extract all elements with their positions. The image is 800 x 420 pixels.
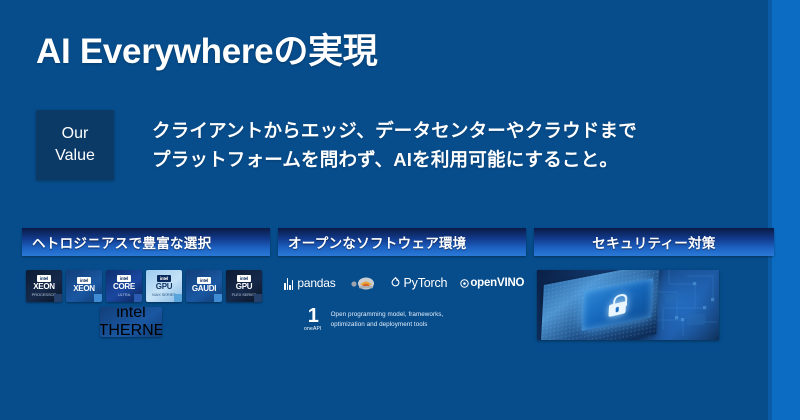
page-title: AI Everywhereの実現 — [36, 32, 377, 72]
pandas-mark-icon — [284, 277, 293, 290]
chip-badge-gpu-max: intel GPU MAX SERIES — [146, 270, 182, 302]
our-value-badge: Our Value — [36, 110, 114, 180]
openvino-logo-label: openVINO — [470, 277, 524, 289]
chip-name: GPU — [236, 283, 252, 291]
openvino-logo: openVINO — [460, 277, 524, 289]
column-hardware: ヘトロジニアスで豊富な選択 intel XEON PROCESSOR intel… — [22, 228, 270, 340]
oneapi-description-line2: optimization and deployment tools — [331, 320, 444, 330]
lock-keyhole — [615, 307, 618, 313]
chip-sub: PROCESSOR — [32, 293, 57, 297]
chip-name: XEON — [33, 283, 54, 291]
security-chip-photo — [537, 270, 719, 340]
chip-corner-accent — [94, 294, 102, 302]
oneapi-description: Open programming model, frameworks, opti… — [331, 307, 444, 331]
oneapi-logo-icon: 1 oneAPI — [304, 307, 322, 332]
chip-name: GPU — [156, 283, 172, 291]
oneapi-wordmark: oneAPI — [304, 326, 322, 332]
pytorch-flame-icon — [390, 277, 401, 289]
chip-corner-accent — [214, 294, 222, 302]
chip-badge-gpu-flex: intel GPU FLEX SERIES — [226, 270, 262, 302]
column-body-software: pandas — [278, 270, 526, 332]
column-heading-security: セキュリティー対策 — [534, 228, 774, 256]
spark-mark-icon — [349, 275, 377, 291]
value-proposition-row: Our Value クライアントからエッジ、データセンターやクラウドまで プラッ… — [36, 110, 736, 180]
pytorch-logo-label: PyTorch — [404, 276, 448, 290]
chip-name: ETHERNET — [100, 322, 162, 337]
chip-sub: ULTRA — [118, 293, 130, 297]
column-security: セキュリティー対策 — [534, 228, 774, 340]
chip-sub: FLEX SERIES — [232, 293, 257, 297]
right-accent-stripe — [772, 0, 800, 420]
chip-corner-accent — [54, 294, 62, 302]
value-text-line1: クライアントからエッジ、データセンターやクラウドまで — [152, 117, 637, 146]
intel-logo-tag: intel — [117, 275, 131, 282]
pandas-logo: pandas — [284, 276, 336, 290]
intel-logo-tag: intel — [77, 277, 91, 284]
intel-logo-tag: intel — [157, 275, 171, 282]
chip-badge-xeon-1: intel XEON PROCESSOR — [26, 270, 62, 302]
oneapi-description-line1: Open programming model, frameworks, — [331, 310, 444, 320]
chip-badge-grid: intel XEON PROCESSOR intel XEON intel CO… — [22, 270, 270, 302]
chip-badge-xeon-2: intel XEON — [66, 270, 102, 302]
oneapi-block: 1 oneAPI Open programming model, framewo… — [278, 307, 526, 332]
slide-root: AI Everywhereの実現 Our Value クライアントからエッジ、デ… — [0, 0, 800, 420]
oneapi-number: 1 — [308, 307, 318, 325]
columns-container: ヘトロジニアスで豊富な選択 intel XEON PROCESSOR intel… — [22, 228, 782, 340]
column-software: オープンなソフトウェア環境 pandas — [278, 228, 526, 340]
pandas-logo-label: pandas — [297, 276, 335, 290]
chip-name: GAUDI — [192, 285, 216, 293]
intel-logo-tag: intel — [37, 275, 51, 282]
chip-corner-accent — [254, 294, 262, 302]
chip-name: XEON — [73, 285, 94, 293]
chip-corner-accent — [174, 294, 182, 302]
intel-logo-tag: intel — [116, 307, 145, 322]
intel-logo-tag: intel — [237, 275, 251, 282]
column-heading-software: オープンなソフトウェア環境 — [278, 228, 526, 256]
value-text-line2: プラットフォームを問わず、AIを利用可能にすること。 — [152, 146, 637, 175]
chip-name: CORE — [113, 283, 135, 291]
chip-sub: MAX SERIES — [152, 293, 175, 297]
pytorch-logo: PyTorch — [390, 276, 448, 290]
openvino-mark-icon — [460, 279, 469, 288]
our-value-line2: Value — [55, 145, 95, 167]
software-logo-row: pandas — [278, 270, 526, 296]
column-heading-hardware: ヘトロジニアスで豊富な選択 — [22, 228, 270, 256]
chip-badge-second-row: intel ETHERNET — [22, 307, 270, 337]
chip-badge-core-ultra: intel CORE ULTRA — [106, 270, 142, 302]
lock-icon — [608, 293, 626, 317]
column-body-hardware: intel XEON PROCESSOR intel XEON intel CO… — [22, 270, 270, 337]
apache-spark-logo — [349, 275, 377, 291]
chip-badge-gaudi: intel GAUDI — [186, 270, 222, 302]
chip-badge-ethernet: intel ETHERNET — [100, 307, 162, 337]
intel-logo-tag: intel — [197, 277, 211, 284]
value-proposition-text: クライアントからエッジ、データセンターやクラウドまで プラットフォームを問わず、… — [152, 117, 637, 174]
column-body-security — [534, 270, 774, 340]
our-value-line1: Our — [62, 123, 89, 145]
chip-corner-accent — [134, 294, 142, 302]
